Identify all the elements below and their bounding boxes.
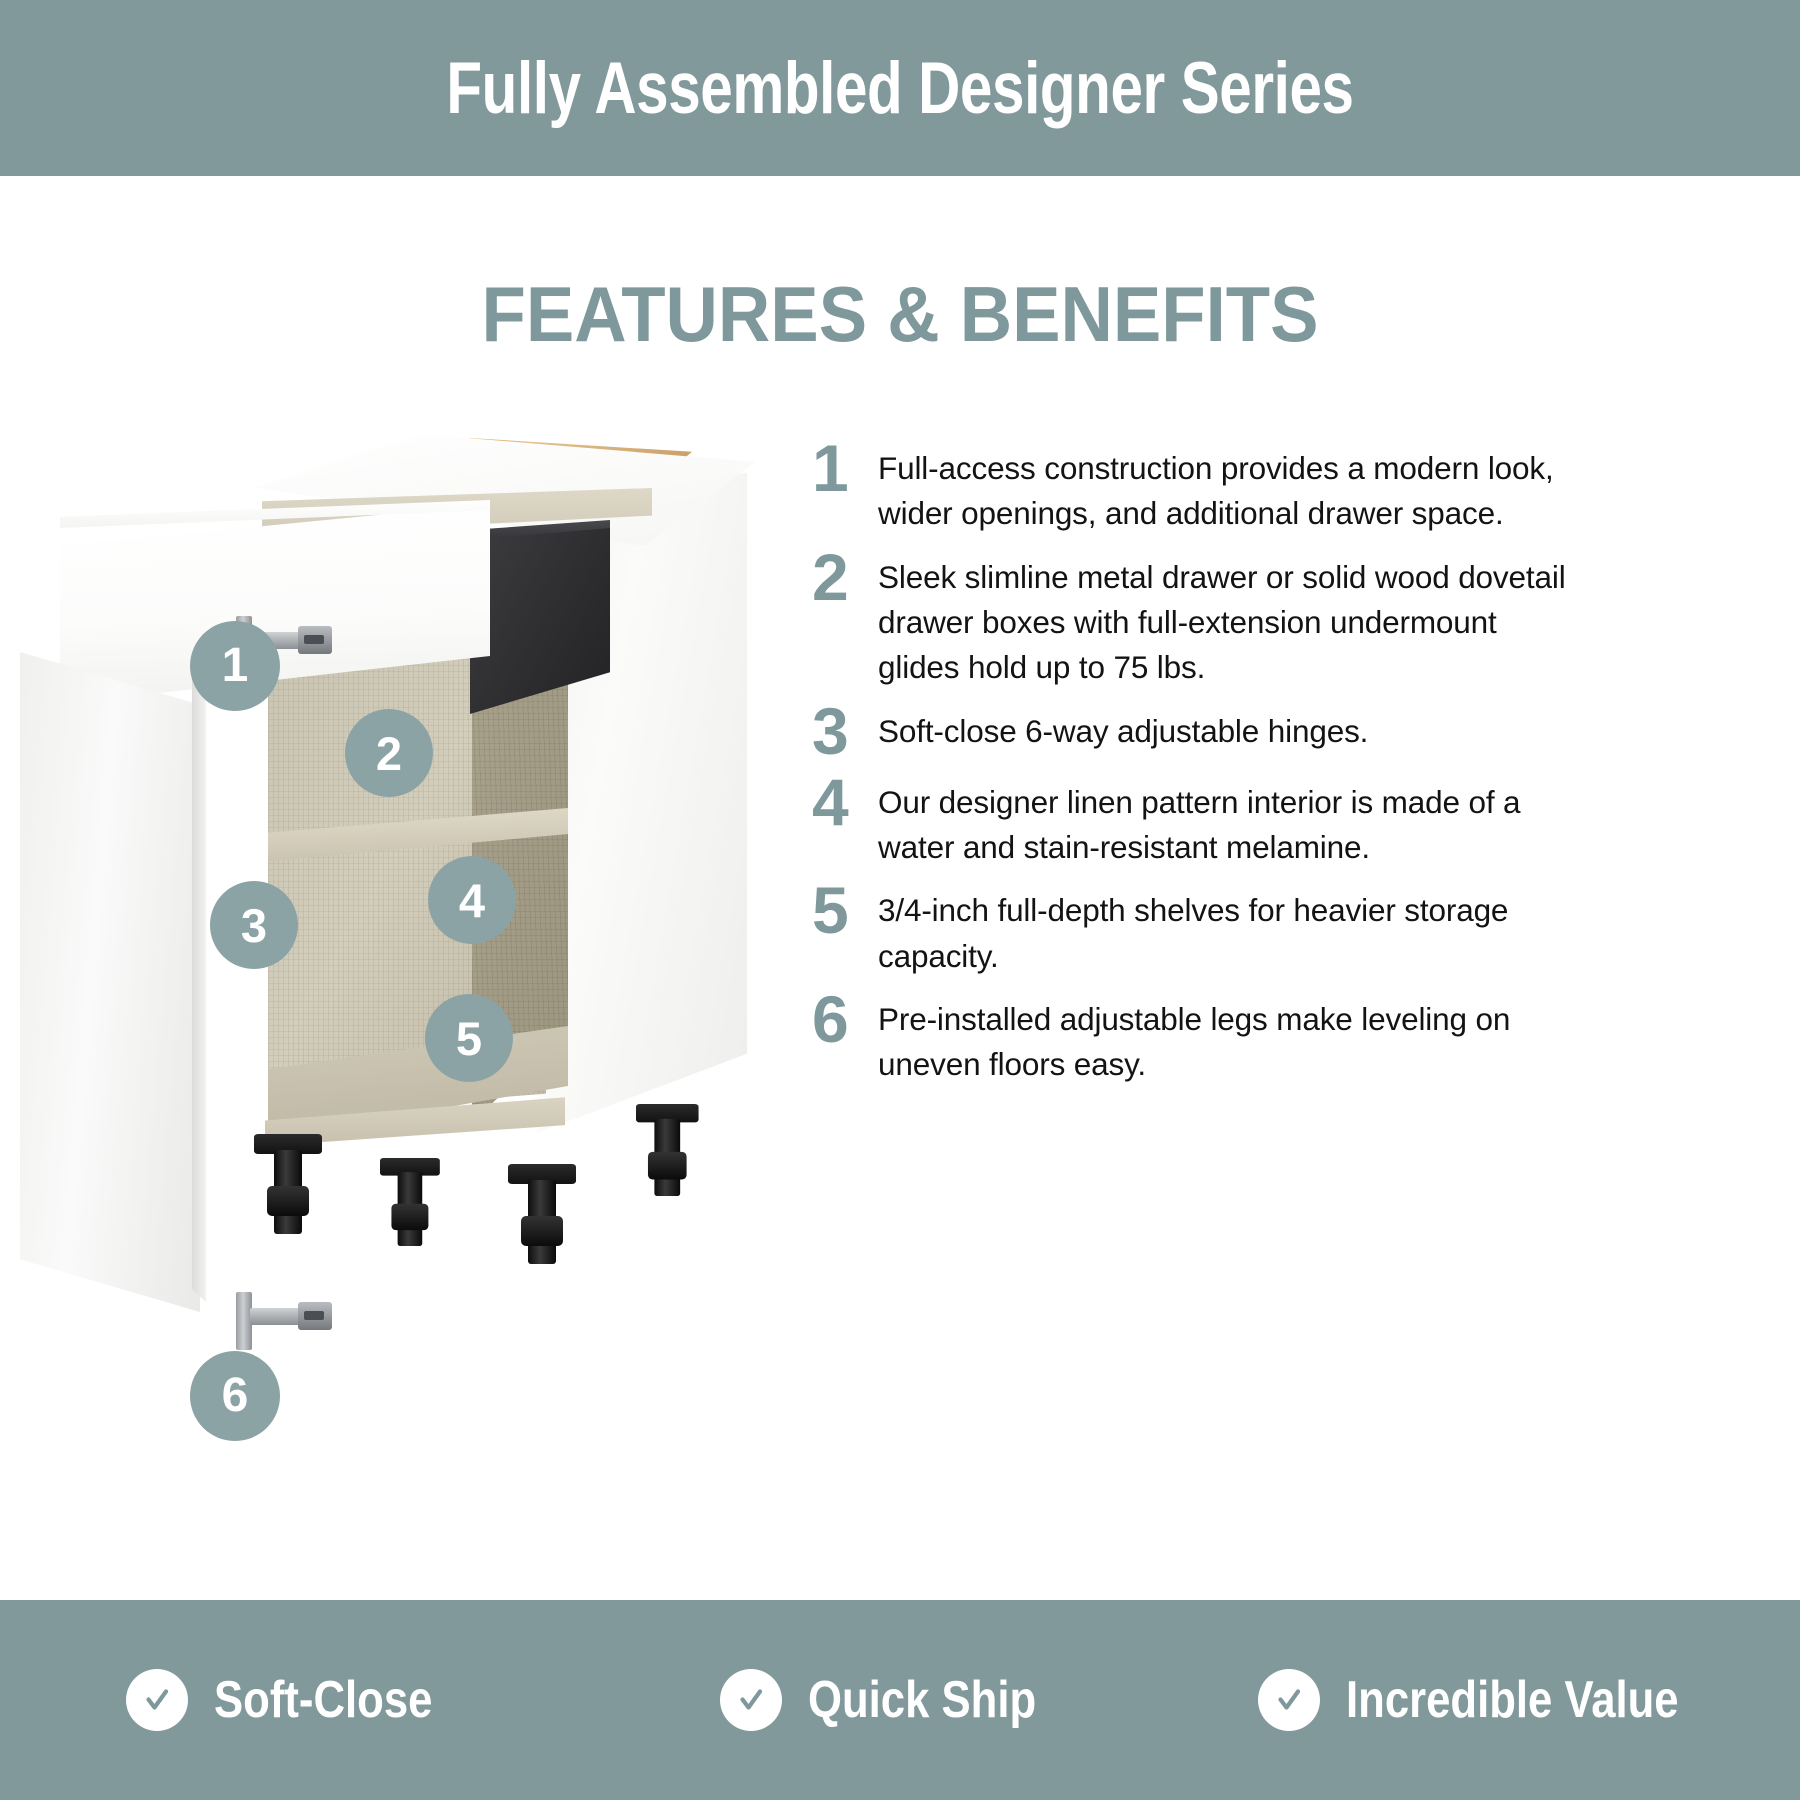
feature-text-1: Full-access construction provides a mode… (878, 446, 1568, 537)
feature-text-5: 3/4-inch full-depth shelves for heavier … (878, 888, 1568, 979)
feature-number-4: 4 (800, 772, 878, 833)
callout-badge-3[interactable]: 3 (210, 881, 298, 969)
feature-item-5: 5 3/4-inch full-depth shelves for heavie… (800, 888, 1700, 979)
leg-collar (267, 1186, 309, 1216)
cabinet-door-edge (192, 672, 206, 1302)
cabinet-door-panel (20, 652, 200, 1312)
feature-item-6: 6 Pre-installed adjustable legs make lev… (800, 997, 1700, 1088)
feature-item-2: 2 Sleek slimline metal drawer or solid w… (800, 555, 1700, 691)
leg-collar (648, 1152, 687, 1180)
check-circle-icon (720, 1669, 782, 1731)
hinge-arm (250, 1308, 304, 1325)
callout-badge-1[interactable]: 1 (190, 621, 280, 711)
check-circle-icon (126, 1669, 188, 1731)
feature-text-2: Sleek slimline metal drawer or solid woo… (878, 555, 1568, 691)
callout-badge-6[interactable]: 6 (190, 1351, 280, 1441)
callout-badge-2[interactable]: 2 (345, 709, 433, 797)
main-content: 1 2 3 4 5 6 1 Full-access construction p… (0, 176, 1800, 1600)
feature-number-5: 5 (800, 880, 878, 941)
callout-badge-5[interactable]: 5 (425, 994, 513, 1082)
features-list: 1 Full-access construction provides a mo… (800, 446, 1700, 1106)
hinge-cup (298, 1302, 332, 1330)
feature-text-4: Our designer linen pattern interior is m… (878, 780, 1568, 871)
footer-label-quick-ship: Quick Ship (808, 1674, 1036, 1726)
feature-item-4: 4 Our designer linen pattern interior is… (800, 780, 1700, 871)
check-circle-icon (1258, 1669, 1320, 1731)
feature-item-3: 3 Soft-close 6-way adjustable hinges. (800, 709, 1700, 762)
feature-number-3: 3 (800, 701, 878, 762)
soft-close-hinge-icon (236, 1288, 334, 1354)
feature-number-1: 1 (800, 438, 878, 499)
footer-badge-soft-close: Soft-Close (0, 1669, 600, 1731)
leg-collar (521, 1216, 563, 1246)
hinge-cup (298, 626, 332, 654)
feature-text-3: Soft-close 6-way adjustable hinges. (878, 709, 1568, 754)
footer-badge-quick-ship: Quick Ship (600, 1669, 1200, 1731)
callout-badge-4[interactable]: 4 (428, 856, 516, 944)
feature-text-6: Pre-installed adjustable legs make level… (878, 997, 1568, 1088)
feature-item-1: 1 Full-access construction provides a mo… (800, 446, 1700, 537)
feature-number-6: 6 (800, 989, 878, 1050)
footer-badge-incredible-value: Incredible Value (1200, 1669, 1800, 1731)
page-title: Fully Assembled Designer Series (446, 52, 1353, 125)
page-header: Fully Assembled Designer Series (0, 0, 1800, 176)
feature-number-2: 2 (800, 547, 878, 608)
product-image: 1 2 3 4 5 6 (40, 416, 800, 1536)
leg-collar (391, 1204, 428, 1230)
footer-label-incredible-value: Incredible Value (1346, 1674, 1679, 1726)
page-footer: Soft-Close Quick Ship Incredible Value (0, 1600, 1800, 1800)
footer-label-soft-close: Soft-Close (214, 1674, 432, 1726)
